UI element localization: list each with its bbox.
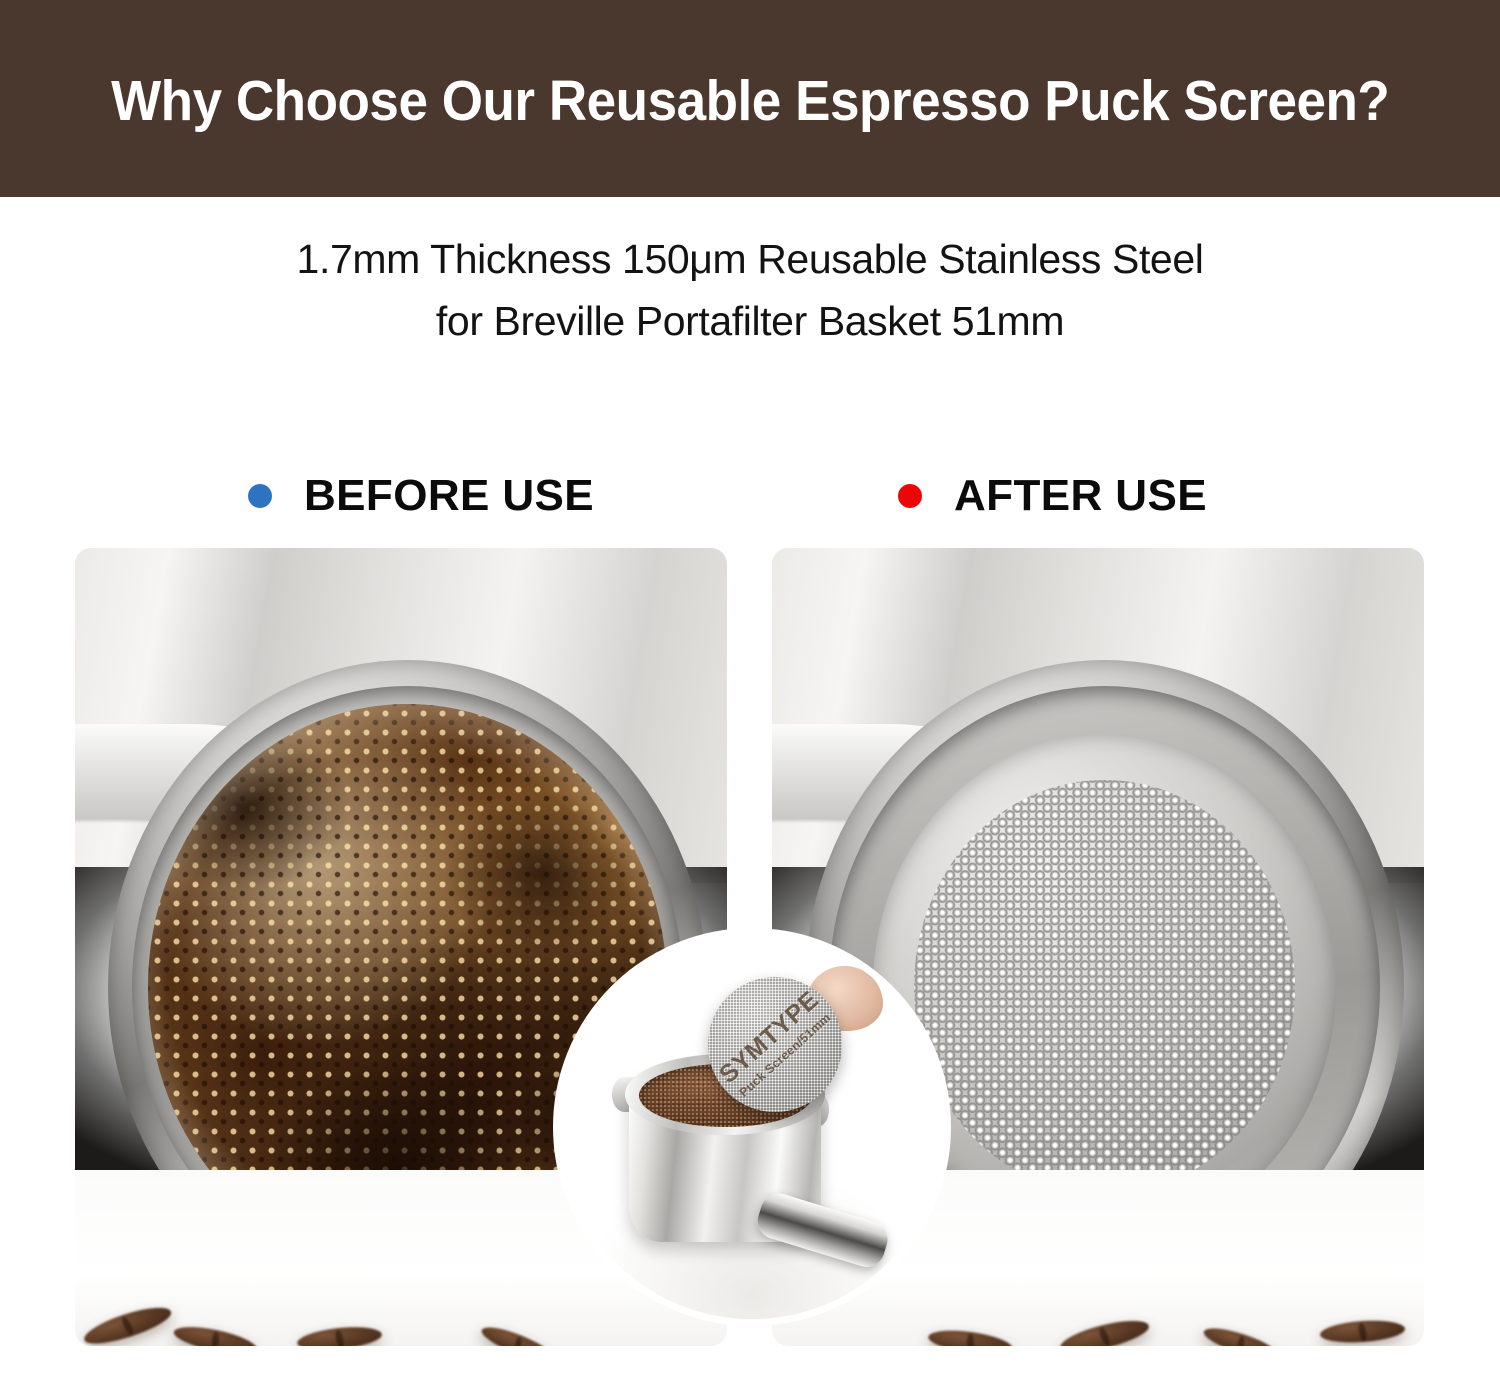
subtitle-line-2: for Breville Portafilter Basket 51mm — [0, 290, 1500, 352]
brand-engraving: SYMTYPE Puck Screen/51mm — [708, 977, 842, 1111]
after-use-label: AFTER USE — [954, 474, 1207, 518]
before-use-label: BEFORE USE — [304, 474, 594, 518]
infographic-page: Why Choose Our Reusable Espresso Puck Sc… — [0, 0, 1500, 1391]
coffee-bean — [1201, 1322, 1281, 1346]
coffee-bean — [478, 1322, 558, 1346]
coffee-bean — [172, 1322, 259, 1346]
screen-perforation-pattern — [914, 780, 1294, 1195]
subtitle-line-1: 1.7mm Thickness 150μm Reusable Stainless… — [0, 228, 1500, 290]
bullet-dot-icon-before — [248, 484, 272, 508]
product-inset-circle: SYMTYPE Puck Screen/51mm — [553, 928, 951, 1326]
before-use-label-group: BEFORE USE — [248, 468, 594, 524]
product-subtitle: 1.7mm Thickness 150μm Reusable Stainless… — [0, 228, 1500, 352]
coffee-bean — [927, 1326, 1014, 1346]
coffee-bean — [1319, 1318, 1405, 1345]
after-use-label-group: AFTER USE — [898, 468, 1207, 524]
header-banner: Why Choose Our Reusable Espresso Puck Sc… — [0, 0, 1500, 197]
page-title: Why Choose Our Reusable Espresso Puck Sc… — [111, 67, 1389, 130]
coffee-bean — [296, 1324, 382, 1346]
comparison-labels: BEFORE USE AFTER USE — [0, 468, 1500, 524]
puck-screen-disc: SYMTYPE Puck Screen/51mm — [708, 977, 842, 1111]
coffee-bean — [1057, 1314, 1151, 1346]
coffee-bean — [80, 1301, 174, 1346]
bullet-dot-icon-after — [898, 484, 922, 508]
